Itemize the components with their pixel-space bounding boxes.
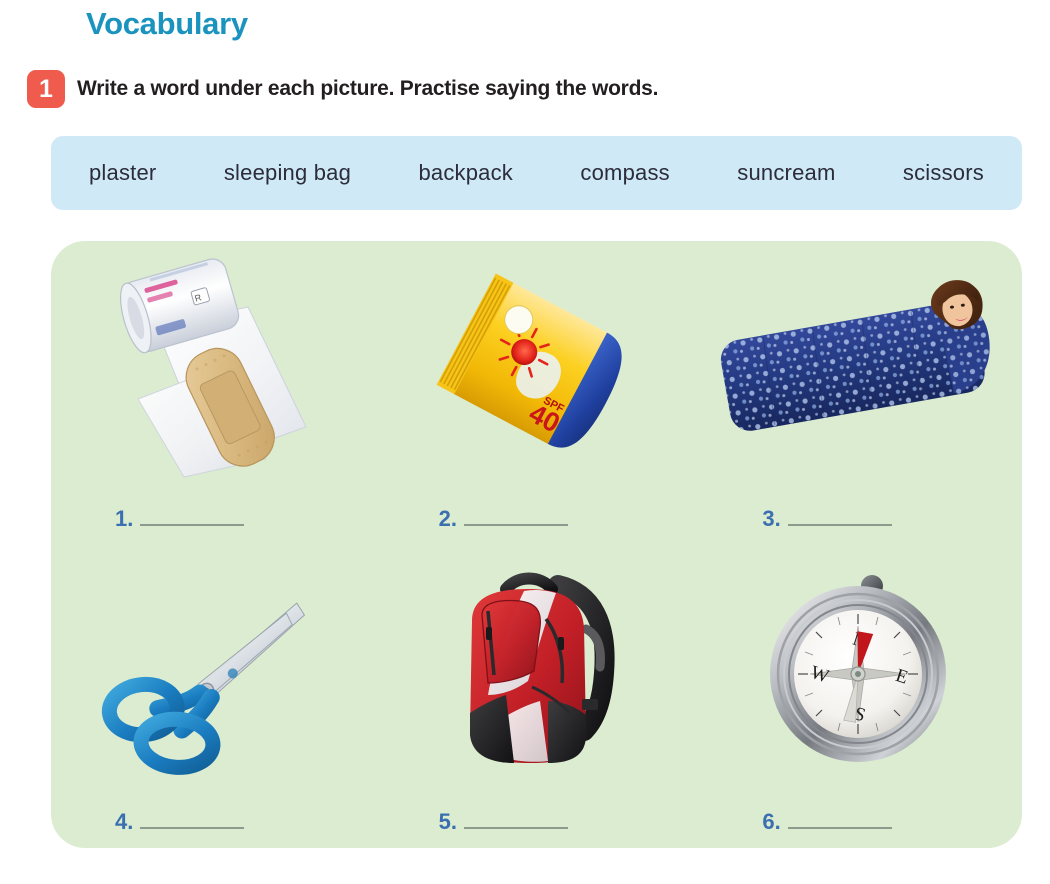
answer-blank[interactable]: [140, 524, 244, 526]
answer-row-6: 6.: [698, 796, 1022, 848]
worksheet-page: Vocabulary 1 Write a word under each pic…: [0, 0, 1050, 884]
picture-cell-2: SPF 40 2.: [375, 241, 699, 545]
picture-cell-4: 4.: [51, 545, 375, 849]
word-bank-item[interactable]: plaster: [89, 160, 156, 186]
answer-row-2: 2.: [375, 493, 699, 545]
item-number: 2.: [439, 506, 457, 532]
word-bank-item[interactable]: sleeping bag: [224, 160, 351, 186]
answer-row-5: 5.: [375, 796, 699, 848]
word-bank-list: plaster sleeping bag backpack compass su…: [51, 160, 1022, 186]
answer-blank[interactable]: [140, 827, 244, 829]
picture-grid: R: [51, 241, 1022, 848]
answer-blank[interactable]: [464, 524, 568, 526]
page-title: Vocabulary: [86, 6, 248, 42]
answer-row-3: 3.: [698, 493, 1022, 545]
answer-row-4: 4.: [51, 796, 375, 848]
item-number: 3.: [762, 506, 780, 532]
item-number: 4.: [115, 809, 133, 835]
item-number: 5.: [439, 809, 457, 835]
word-bank: plaster sleeping bag backpack compass su…: [51, 136, 1022, 210]
picture-cell-5: 5.: [375, 545, 699, 849]
item-number: 1.: [115, 506, 133, 532]
exercise-number-badge: 1: [27, 70, 65, 108]
exercise-instruction-row: 1 Write a word under each picture. Pract…: [27, 70, 658, 108]
answer-blank[interactable]: [464, 827, 568, 829]
word-bank-item[interactable]: compass: [580, 160, 669, 186]
picture-cell-3: 3.: [698, 241, 1022, 545]
word-bank-item[interactable]: backpack: [418, 160, 513, 186]
picture-cell-1: R: [51, 241, 375, 545]
word-bank-item[interactable]: scissors: [903, 160, 984, 186]
sleeping-bag-photo: [698, 241, 1022, 493]
answer-blank[interactable]: [788, 827, 892, 829]
word-bank-item[interactable]: suncream: [737, 160, 835, 186]
answer-row-1: 1.: [51, 493, 375, 545]
item-number: 6.: [762, 809, 780, 835]
picture-cell-6: N S W E 6.: [698, 545, 1022, 849]
plaster-bandage-photo: R: [51, 241, 375, 493]
compass-photo: N S W E: [698, 545, 1022, 797]
scissors-photo: [51, 545, 375, 797]
answer-blank[interactable]: [788, 524, 892, 526]
picture-panel: R: [51, 241, 1022, 848]
suncream-tube-photo: SPF 40: [375, 241, 699, 493]
backpack-photo: [375, 545, 699, 797]
exercise-instruction-text: Write a word under each picture. Practis…: [77, 77, 658, 101]
